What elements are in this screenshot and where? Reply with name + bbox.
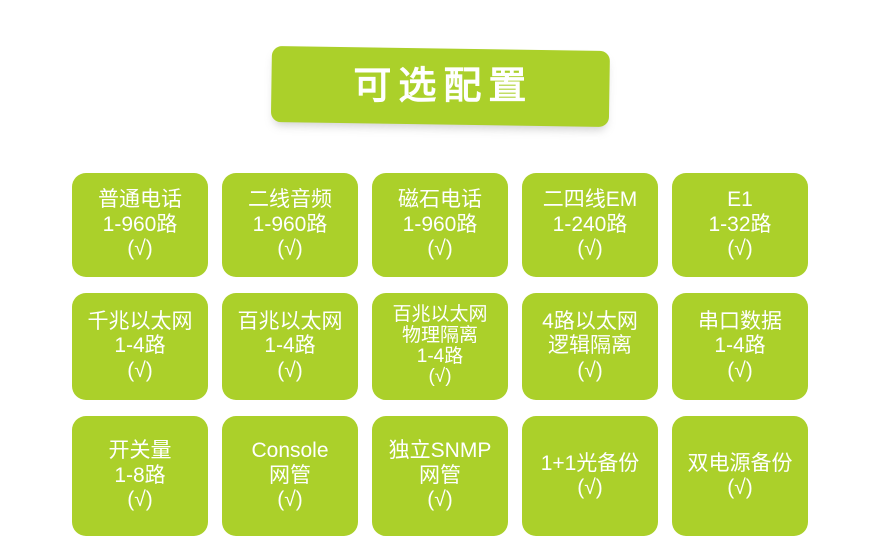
option-line: 1-240路 xyxy=(553,213,628,237)
option-line: 二四线EM xyxy=(543,188,638,212)
option-card[interactable]: 二四线EM 1-240路 (√) xyxy=(522,173,658,277)
option-check-mark: (√) xyxy=(127,488,153,512)
option-line: 1-960路 xyxy=(253,213,328,237)
options-row-1: 普通电话 1-960路 (√) 二线音频 1-960路 (√) 磁石电话 1-9… xyxy=(72,173,808,277)
option-check-mark: (√) xyxy=(577,476,603,500)
option-check-mark: (√) xyxy=(727,476,753,500)
option-line: 开关量 xyxy=(109,439,172,463)
option-card[interactable]: 百兆以太网 1-4路 (√) xyxy=(222,293,358,400)
option-line: 磁石电话 xyxy=(398,188,482,212)
option-line: 百兆以太网 xyxy=(392,305,487,326)
option-check-mark: (√) xyxy=(127,237,153,261)
options-row-2: 千兆以太网 1-4路 (√) 百兆以太网 1-4路 (√) 百兆以太网 物理隔离… xyxy=(72,293,808,400)
banner-area: 可选配置 xyxy=(0,0,880,150)
option-card[interactable]: 独立SNMP 网管 (√) xyxy=(372,416,508,536)
option-line: 逻辑隔离 xyxy=(548,334,632,358)
option-check-mark: (√) xyxy=(127,359,153,383)
option-card[interactable]: E1 1-32路 (√) xyxy=(672,173,808,277)
option-card[interactable]: 普通电话 1-960路 (√) xyxy=(72,173,208,277)
option-line: 1-8路 xyxy=(114,464,165,488)
option-card[interactable]: 百兆以太网 物理隔离 1-4路 (√) xyxy=(372,293,508,400)
option-line: 1-4路 xyxy=(264,334,315,358)
option-check-mark: (√) xyxy=(277,488,303,512)
option-card[interactable]: 4路以太网 逻辑隔离 (√) xyxy=(522,293,658,400)
option-line: 千兆以太网 xyxy=(88,310,193,334)
option-card[interactable]: 开关量 1-8路 (√) xyxy=(72,416,208,536)
option-card[interactable]: Console 网管 (√) xyxy=(222,416,358,536)
option-line: 百兆以太网 xyxy=(238,310,343,334)
option-line: 物理隔离 xyxy=(402,326,478,347)
option-card[interactable]: 千兆以太网 1-4路 (√) xyxy=(72,293,208,400)
option-line: 双电源备份 xyxy=(688,452,793,476)
option-check-mark: (√) xyxy=(428,367,451,388)
option-line: 1-960路 xyxy=(103,213,178,237)
option-line: 普通电话 xyxy=(98,188,182,212)
option-line: 1+1光备份 xyxy=(541,452,640,476)
option-check-mark: (√) xyxy=(427,237,453,261)
option-line: 二线音频 xyxy=(248,188,332,212)
option-card[interactable]: 1+1光备份 (√) xyxy=(522,416,658,536)
option-line: 4路以太网 xyxy=(542,310,638,334)
option-line: 1-960路 xyxy=(403,213,478,237)
option-line: Console xyxy=(251,439,328,463)
option-check-mark: (√) xyxy=(727,359,753,383)
option-card[interactable]: 串口数据 1-4路 (√) xyxy=(672,293,808,400)
options-grid: 普通电话 1-960路 (√) 二线音频 1-960路 (√) 磁石电话 1-9… xyxy=(72,173,808,552)
option-line: 1-4路 xyxy=(417,347,463,368)
option-check-mark: (√) xyxy=(277,359,303,383)
option-line: 串口数据 xyxy=(698,310,782,334)
option-check-mark: (√) xyxy=(277,237,303,261)
option-line: 独立SNMP xyxy=(389,439,492,463)
section-banner: 可选配置 xyxy=(271,46,610,127)
option-check-mark: (√) xyxy=(577,237,603,261)
option-line: 网管 xyxy=(419,464,461,488)
option-card[interactable]: 磁石电话 1-960路 (√) xyxy=(372,173,508,277)
option-line: E1 xyxy=(727,188,753,212)
options-row-3: 开关量 1-8路 (√) Console 网管 (√) 独立SNMP 网管 (√… xyxy=(72,416,808,536)
option-line: 1-32路 xyxy=(708,213,771,237)
option-line: 网管 xyxy=(269,464,311,488)
option-card[interactable]: 双电源备份 (√) xyxy=(672,416,808,536)
option-line: 1-4路 xyxy=(114,334,165,358)
option-card[interactable]: 二线音频 1-960路 (√) xyxy=(222,173,358,277)
option-check-mark: (√) xyxy=(577,359,603,383)
page-title: 可选配置 xyxy=(347,68,534,106)
option-check-mark: (√) xyxy=(427,488,453,512)
option-check-mark: (√) xyxy=(727,237,753,261)
option-line: 1-4路 xyxy=(714,334,765,358)
